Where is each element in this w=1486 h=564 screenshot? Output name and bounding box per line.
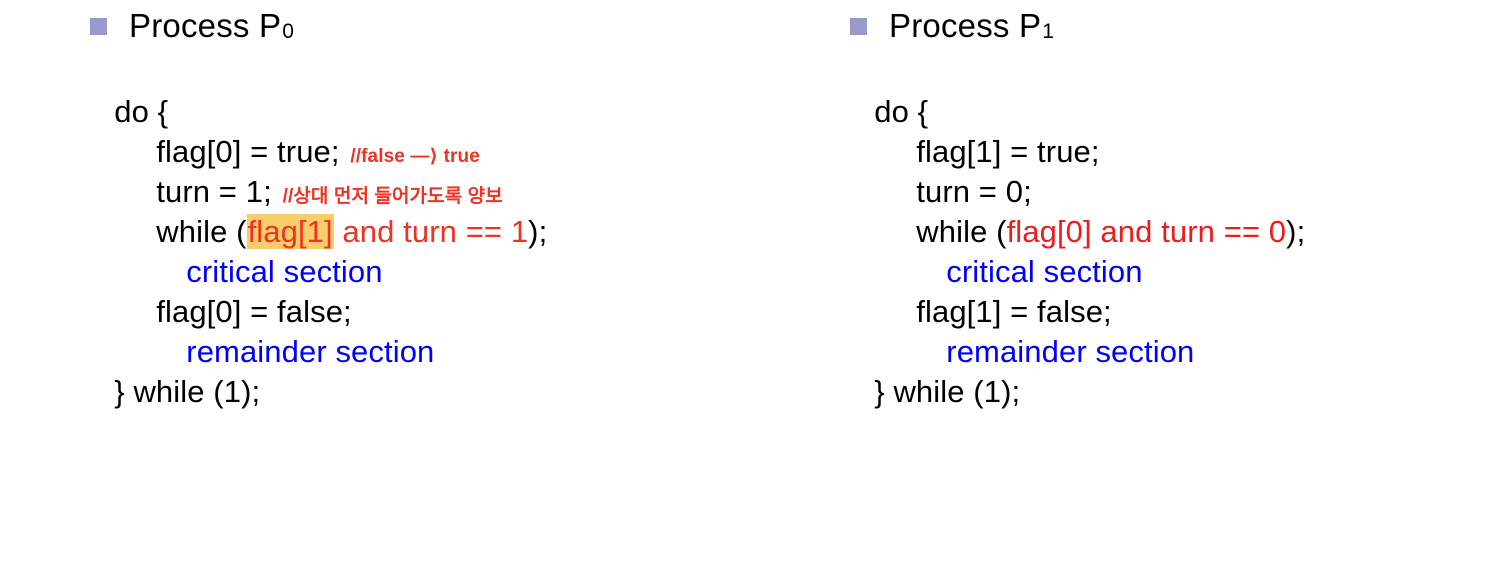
right-while-keyword: while ( [916, 214, 1006, 249]
left-flag-comment-text: //false —⟩ true [350, 146, 480, 167]
left-while-keyword: while ( [156, 214, 246, 249]
process-p0-title: Process P [129, 7, 281, 45]
left-turn-comment: //상대 먼저 들어가도록 양보 [272, 186, 503, 207]
left-while-close: ); [528, 214, 547, 249]
right-while-close: ); [1286, 214, 1305, 249]
process-p1-title: Process P [889, 7, 1041, 45]
process-p1-column: Process P1 do { flag[1] = true; turn = 0… [822, 0, 1462, 372]
filled-square-bullet-icon [850, 18, 867, 35]
left-remainder-section-text: remainder section [186, 334, 434, 369]
right-remainder-section-text: remainder section [946, 334, 1194, 369]
right-while-condition-text: flag[0] and turn == 0 [1007, 214, 1287, 249]
process-p0-column: Process P0 do { flag[0] = true; //false … [62, 0, 762, 372]
right-flag-false-text: flag[1] = false; [916, 294, 1111, 329]
process-p1-heading: Process P1 [822, 0, 1462, 52]
right-turn-assign-text: turn = 0; [916, 174, 1032, 209]
right-do-close-text: } while (1); [874, 374, 1020, 409]
left-do-open-text: do { [114, 94, 168, 129]
right-do-open-text: do { [874, 94, 928, 129]
left-while-condition-text: and turn == 1 [334, 214, 528, 249]
right-flag-true-text: flag[1] = true; [916, 134, 1099, 169]
left-flag-false-text: flag[0] = false; [156, 294, 351, 329]
right-critical-section-text: critical section [946, 254, 1142, 289]
filled-square-bullet-icon [90, 18, 107, 35]
left-turn-assign-text: turn = 1; [156, 174, 272, 209]
process-p1-subscript: 1 [1042, 20, 1054, 44]
process-p0-heading: Process P0 [62, 0, 762, 52]
right-line-do-open: do { [822, 52, 1462, 92]
left-flag-comment: //false —⟩ true [340, 146, 480, 167]
process-p0-subscript: 0 [282, 20, 294, 44]
left-line-do-open: do { [62, 52, 762, 92]
left-while-highlighted-term: flag[1] [247, 214, 334, 249]
left-do-close-text: } while (1); [114, 374, 260, 409]
left-critical-section-text: critical section [186, 254, 382, 289]
left-turn-comment-text: //상대 먼저 들어가도록 양보 [283, 186, 503, 207]
slide-canvas: Process P0 do { flag[0] = true; //false … [0, 0, 1486, 564]
left-flag-true-text: flag[0] = true; [156, 134, 339, 169]
